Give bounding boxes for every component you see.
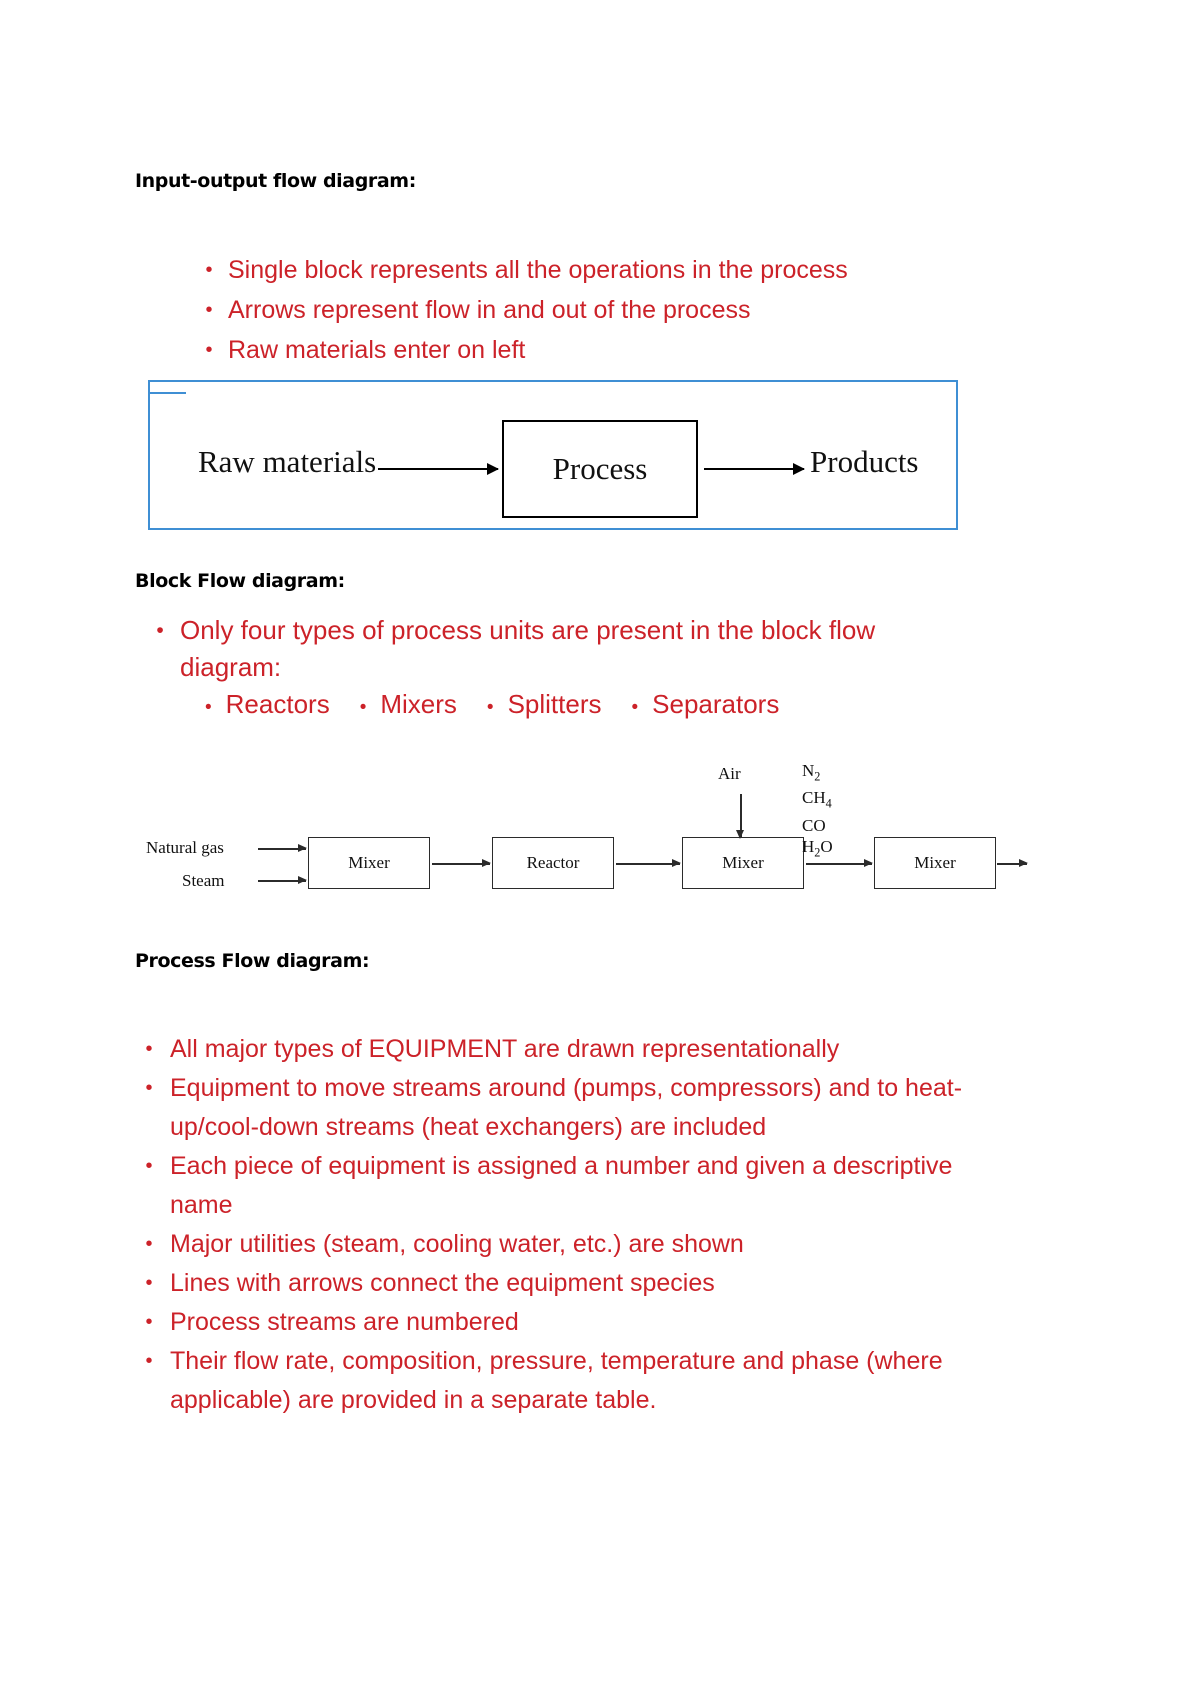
list-item-label: Raw materials enter on left (228, 330, 970, 370)
bfd-unit-mixer-1: Mixer (308, 837, 430, 889)
list-item: • Lines with arrows connect the equipmen… (128, 1264, 998, 1303)
input-output-figure-frame: Raw materials Process Products (148, 380, 958, 530)
list-item-label: Their flow rate, composition, pressure, … (170, 1342, 998, 1420)
list-item: • Arrows represent flow in and out of th… (190, 290, 970, 330)
bfd-arrow-air-inlet (740, 794, 742, 838)
bfd-unit-mixer-3: Mixer (874, 837, 996, 889)
bfd-unit-mixer-2: Mixer (682, 837, 804, 889)
list-item-label: Process streams are numbered (170, 1303, 998, 1342)
bfd-arrow-natural-gas (258, 848, 306, 850)
bfd-species-co: CO (802, 815, 833, 836)
list-item: • Their flow rate, composition, pressure… (128, 1342, 998, 1420)
bfd-arrow-outlet (997, 863, 1027, 865)
list-item: • Major utilities (steam, cooling water,… (128, 1225, 998, 1264)
heading-block-flow-diagram: Block Flow diagram: (135, 570, 345, 592)
bfd-species-ch4: CH4 (802, 787, 833, 814)
list-item-label: Single block represents all the operatio… (228, 250, 970, 290)
bfd-arrow-mixer1-to-reactor (432, 863, 490, 865)
list-item: • Each piece of equipment is assigned a … (128, 1147, 998, 1225)
list-item-label: Major utilities (steam, cooling water, e… (170, 1225, 998, 1264)
document-page: Input-output flow diagram: • Single bloc… (0, 0, 1200, 1698)
heading-input-output-flow-diagram: Input-output flow diagram: (135, 170, 416, 192)
input-output-diagram: Raw materials Process Products (150, 382, 956, 528)
unit-type-mixers: Mixers (380, 689, 487, 720)
list-item-label: Only four types of process units are pre… (180, 612, 970, 686)
bfd-species-list: N2 CH4 CO H2O (802, 760, 833, 863)
heading-process-flow-diagram: Process Flow diagram: (135, 950, 369, 972)
list-item: • Equipment to move streams around (pump… (128, 1069, 998, 1147)
bullet-dot-icon: • (128, 1225, 170, 1264)
process-unit-types-row: • Reactors • Mixers • Splitters • Separa… (205, 689, 965, 720)
list-item: • All major types of EQUIPMENT are drawn… (128, 1030, 998, 1069)
list-item-label: Each piece of equipment is assigned a nu… (170, 1147, 998, 1225)
bfd-label-air: Air (718, 764, 741, 784)
arrow-raw-materials-to-process (378, 468, 498, 470)
bullet-dot-icon: • (190, 290, 228, 330)
bullet-dot-icon: • (205, 697, 226, 719)
bfd-species-n2: N2 (802, 760, 833, 787)
bfd-unit-reactor: Reactor (492, 837, 614, 889)
list-item-label: Equipment to move streams around (pumps,… (170, 1069, 998, 1147)
list-item-label: Lines with arrows connect the equipment … (170, 1264, 998, 1303)
process-block-label: Process (553, 451, 648, 487)
bfd-arrow-reactor-to-mixer2 (616, 863, 680, 865)
bullet-dot-icon: • (128, 1147, 170, 1186)
bullet-dot-icon: • (128, 1342, 170, 1381)
process-block: Process (502, 420, 698, 518)
list-item: • Process streams are numbered (128, 1303, 998, 1342)
bullet-dot-icon: • (128, 1264, 170, 1303)
bullet-dot-icon: • (128, 1303, 170, 1342)
list-item-label: All major types of EQUIPMENT are drawn r… (170, 1030, 998, 1069)
input-output-bullet-list: • Single block represents all the operat… (190, 250, 970, 370)
diagram-label-raw-materials: Raw materials (198, 444, 376, 480)
bullet-dot-icon: • (487, 697, 508, 719)
list-item: • Raw materials enter on left (190, 330, 970, 370)
list-item: • Single block represents all the operat… (190, 250, 970, 290)
unit-type-splitters: Splitters (508, 689, 632, 720)
list-item-label: Arrows represent flow in and out of the … (228, 290, 970, 330)
bullet-dot-icon: • (360, 697, 381, 719)
unit-type-separators: Separators (652, 689, 809, 720)
bfd-arrow-mixer2-to-mixer3 (806, 863, 872, 865)
diagram-label-products: Products (810, 444, 919, 480)
list-item: • Only four types of process units are p… (140, 612, 970, 686)
bfd-label-steam: Steam (182, 871, 225, 891)
process-flow-bullet-list: • All major types of EQUIPMENT are drawn… (128, 1030, 998, 1420)
bullet-dot-icon: • (632, 697, 653, 719)
arrow-process-to-products (704, 468, 804, 470)
bullet-dot-icon: • (128, 1069, 170, 1108)
bullet-dot-icon: • (190, 250, 228, 290)
bullet-dot-icon: • (190, 330, 228, 370)
unit-type-reactors: Reactors (226, 689, 360, 720)
bfd-label-natural-gas: Natural gas (146, 838, 224, 858)
bfd-arrow-steam (258, 880, 306, 882)
bullet-dot-icon: • (140, 612, 180, 649)
bfd-species-h2o: H2O (802, 836, 833, 863)
block-flow-diagram: Natural gas Steam Mixer Reactor Mixer Mi… (140, 752, 985, 917)
bullet-dot-icon: • (128, 1030, 170, 1069)
block-flow-bullet-list: • Only four types of process units are p… (140, 612, 970, 686)
